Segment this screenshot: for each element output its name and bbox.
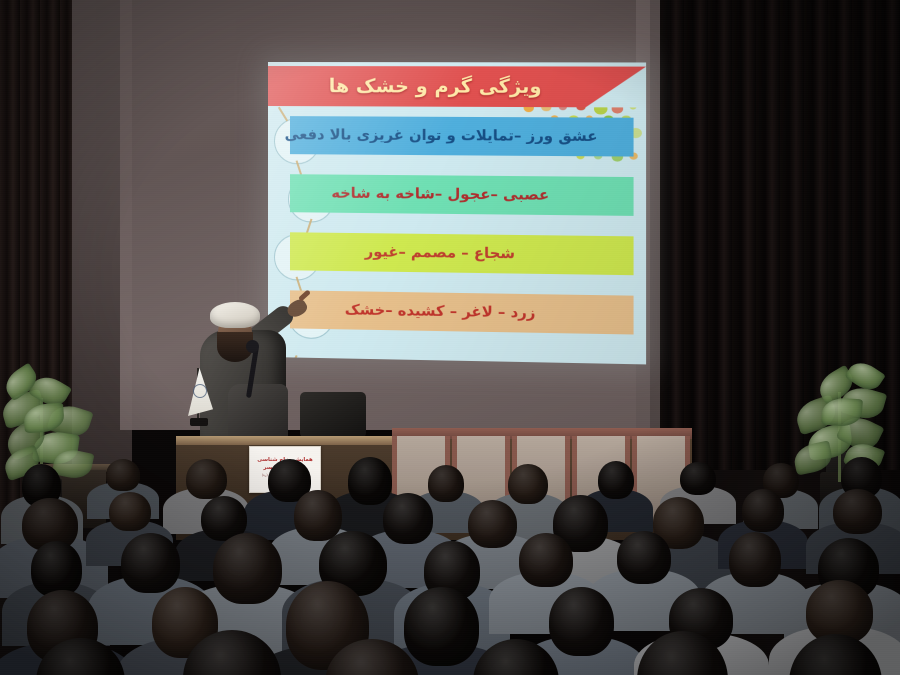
slide-title: ویژگی گرم و خشک ها [268,66,646,108]
slide-row-text: عشق ورز –تمایلات و توان غریزی بالا دفعی [285,127,640,145]
audience-member-head [742,489,785,532]
audience-member-head [729,532,781,587]
audience-member-head [213,533,282,605]
audience-member-head [833,489,882,534]
speaker-pointing-finger [298,289,311,301]
audience-member-head [109,492,150,531]
audience-member-head [468,500,517,548]
audience-member-head [294,490,341,541]
slide-row-4: زرد – لاغر – کشیده –خشک [290,290,634,334]
audience-member-head [106,459,141,491]
audience-member-head [428,465,464,501]
audience-member-head [348,457,392,504]
audience-member-head [617,531,672,585]
slide-row-1: عشق ورز –تمایلات و توان غریزی بالا دفعی [290,116,634,156]
table-flag [186,368,214,424]
audience-member-head [383,493,433,544]
audience-member-head [549,587,614,656]
stage-equipment-box [300,392,366,438]
audience [0,440,900,675]
speaker-turban [210,302,260,328]
audience-member-head [31,541,82,597]
lecture-hall-photo: ویژگی گرم و خشک ها عشق ورز –تمایلات و تو… [0,0,900,675]
audience-member-head [680,462,716,495]
slide-row-text: زرد – لاغر – کشیده –خشک [345,302,577,322]
flag-emblem-icon [193,384,207,398]
audience-member-head [598,461,634,499]
audience-member-head [404,587,479,665]
slide-rows: عشق ورز –تمایلات و توان غریزی بالا دفعیع… [268,116,646,363]
microphone-head [246,340,259,353]
slide-row-3: شجاع – مصمم –غیور [290,232,634,275]
slide-connector-line [278,107,288,122]
projected-slide: ویژگی گرم و خشک ها عشق ورز –تمایلات و تو… [268,62,646,364]
audience-member-head [121,533,180,593]
slide-row-text: شجاع – مصمم –غیور [365,244,557,263]
slide-row-2: عصبی –عجول –شاخه به شاخه [290,174,634,216]
audience-member-head [519,533,573,587]
flag-base [190,418,208,426]
slide-row-text: عصبی –عجول –شاخه به شاخه [331,186,590,205]
audience-member-head [508,464,548,505]
audience-member-head [186,459,227,499]
